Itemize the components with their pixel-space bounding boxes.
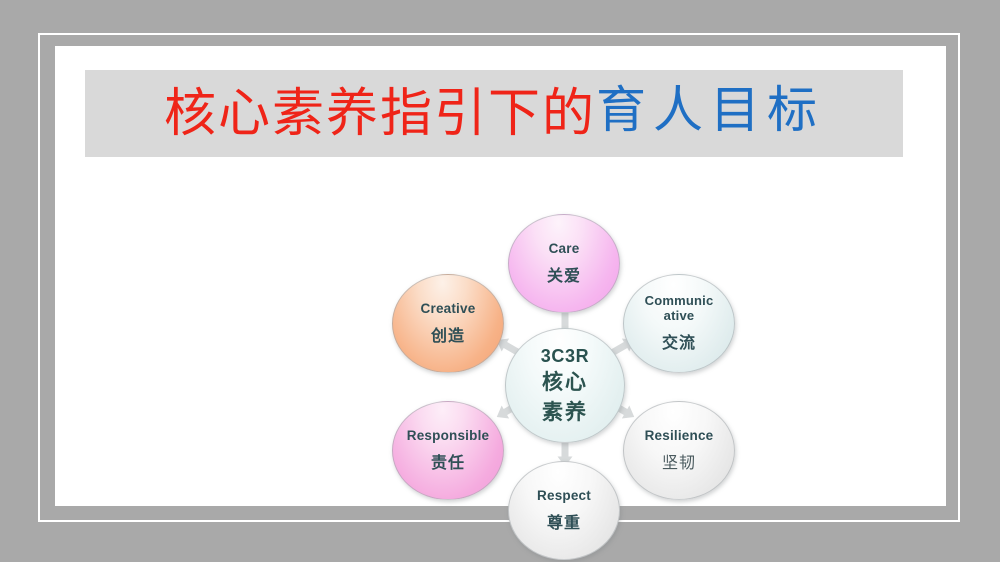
node-care-label-en: Care <box>549 241 580 256</box>
node-center-label-zh-line1: 核心 <box>542 370 588 396</box>
diagram-node-creative[interactable]: Creative 创造 <box>392 274 504 373</box>
slide-canvas: 核心素养指引下的育人目标 <box>55 46 946 506</box>
page-title: 核心素养指引下的育人目标 <box>85 70 903 157</box>
node-respect-label-en: Respect <box>537 488 591 503</box>
node-care-label-zh: 关爱 <box>547 262 581 286</box>
diagram-node-respect[interactable]: Respect 尊重 <box>508 461 620 560</box>
node-creative-label-zh: 创造 <box>431 322 465 346</box>
node-resilience-label-en: Resilience <box>645 428 714 443</box>
diagram-node-responsible[interactable]: Responsible 责任 <box>392 401 504 500</box>
diagram-node-communicative[interactable]: Communic ative 交流 <box>623 274 735 373</box>
page-title-blue-segment: 育人目标 <box>596 85 824 135</box>
node-communicative-label-en-line2: ative <box>664 309 695 324</box>
node-respect-label-zh: 尊重 <box>547 509 581 533</box>
competency-diagram: Care 关爱 Communic ative 交流 Resilience 坚韧 … <box>310 156 730 506</box>
page-title-red-segment: 核心素养指引下的 <box>164 88 596 140</box>
diagram-node-resilience[interactable]: Resilience 坚韧 <box>623 401 735 500</box>
node-center-label-zh-line2: 素养 <box>542 400 588 426</box>
diagram-node-care[interactable]: Care 关爱 <box>508 214 620 313</box>
node-communicative-label-zh: 交流 <box>662 329 696 353</box>
node-communicative-label-en-line1: Communic <box>645 294 714 309</box>
title-band: 核心素养指引下的育人目标 <box>85 70 903 157</box>
node-responsible-label-zh: 责任 <box>431 449 465 473</box>
slide-frame: 核心素养指引下的育人目标 <box>0 0 1000 562</box>
node-resilience-label-zh: 坚韧 <box>662 449 696 473</box>
node-center-code: 3C3R <box>541 346 589 366</box>
diagram-node-center[interactable]: 3C3R 核心 素养 <box>505 328 625 443</box>
node-creative-label-en: Creative <box>421 301 476 316</box>
node-responsible-label-en: Responsible <box>407 428 489 443</box>
